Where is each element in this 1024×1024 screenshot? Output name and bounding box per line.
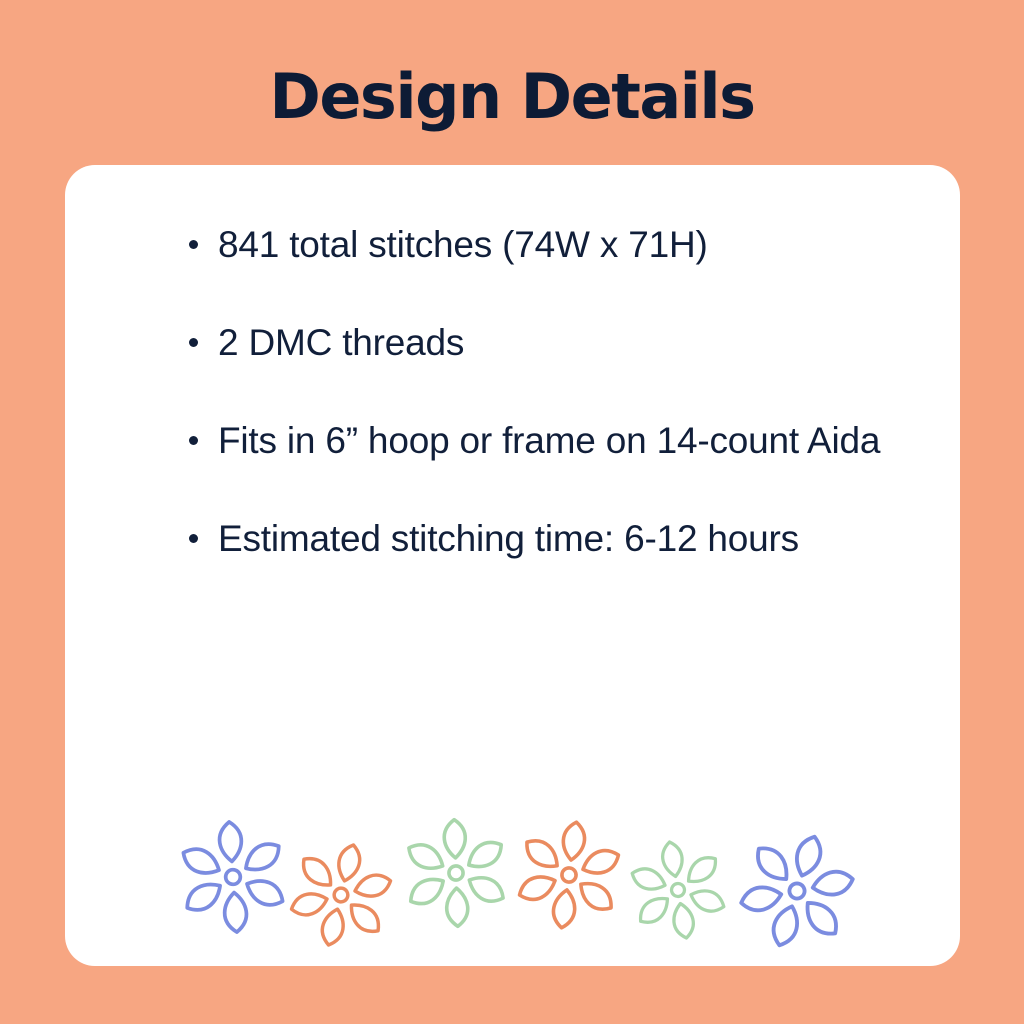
flower-icon bbox=[617, 829, 740, 952]
list-item: Estimated stitching time: 6-12 hours bbox=[189, 509, 919, 569]
flower-row-decoration bbox=[173, 815, 873, 945]
flower-icon bbox=[719, 813, 875, 969]
list-item-label: Estimated stitching time: 6-12 hours bbox=[218, 518, 799, 559]
bullet-icon bbox=[189, 338, 198, 347]
flower-icon bbox=[273, 827, 409, 963]
flower-icon bbox=[503, 809, 634, 940]
bullet-icon bbox=[189, 436, 198, 445]
page-root: Design Details 841 total stitches (74W x… bbox=[0, 0, 1024, 1024]
list-item-label: 2 DMC threads bbox=[218, 322, 464, 363]
details-card: 841 total stitches (74W x 71H) 2 DMC thr… bbox=[65, 165, 960, 966]
list-item: 2 DMC threads bbox=[189, 313, 919, 373]
list-item: 841 total stitches (74W x 71H) bbox=[189, 215, 919, 275]
page-title: Design Details bbox=[0, 62, 1024, 131]
design-details-list: 841 total stitches (74W x 71H) 2 DMC thr… bbox=[189, 215, 919, 569]
list-item-label: Fits in 6” hoop or frame on 14-count Aid… bbox=[218, 420, 880, 461]
list-item: Fits in 6” hoop or frame on 14-count Aid… bbox=[189, 411, 919, 471]
bullet-icon bbox=[189, 534, 198, 543]
flower-icon bbox=[396, 813, 516, 933]
bullet-icon bbox=[189, 240, 198, 249]
list-item-label: 841 total stitches (74W x 71H) bbox=[218, 224, 708, 265]
